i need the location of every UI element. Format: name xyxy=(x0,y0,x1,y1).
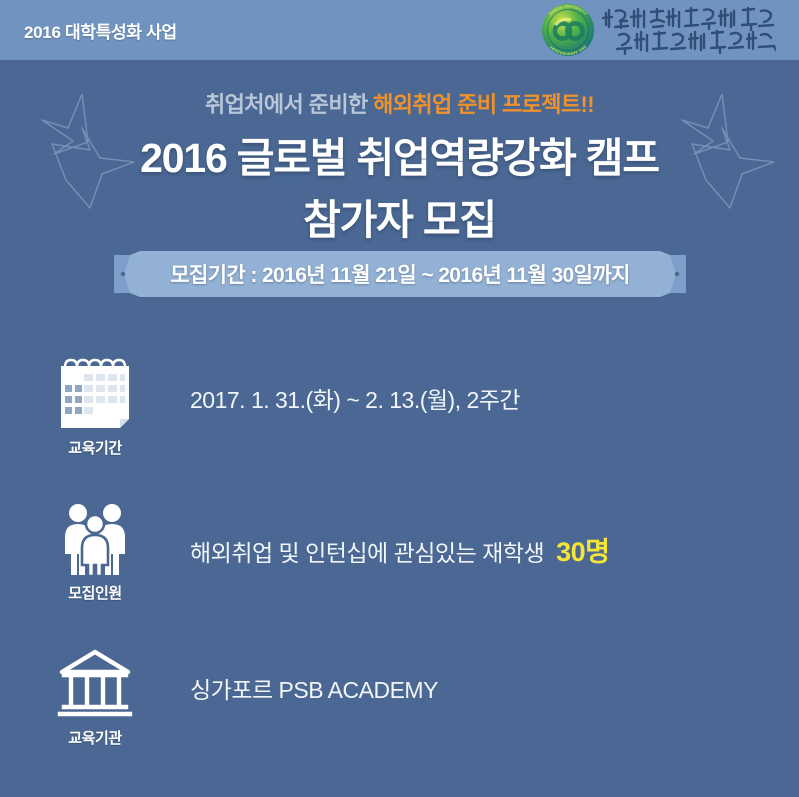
hero-subtitle: 취업처에서 준비한 해외취업 준비 프로젝트!! xyxy=(0,88,799,122)
people-group-icon xyxy=(55,500,135,578)
university-slogan xyxy=(601,5,776,55)
poster-canvas: 2016 대학특성화 사업 DAEGU UNIVERSITY 65th ANNI… xyxy=(0,0,799,797)
info-row-label: 모집인원 xyxy=(68,582,122,603)
university-logo: DAEGU UNIVERSITY 65th ANNIVERSARY xyxy=(541,2,781,58)
info-row-institution: 교육기관 싱가포르 PSB ACADEMY xyxy=(0,645,799,790)
info-row-headcount: 모집인원 해외취업 및 인턴십에 관심있는 재학생30명 xyxy=(0,500,799,645)
ribbon-text: 모집기간 : 2016년 11월 21일 ~ 2016년 11월 30일까지 xyxy=(114,251,686,297)
info-list: 교육기간 2017. 1. 31.(화) ~ 2. 13.(월), 2주간 xyxy=(0,355,799,790)
info-row-main-text: 2017. 1. 31.(화) ~ 2. 13.(월), 2주간 xyxy=(190,387,520,413)
anniversary-emblem-icon: DAEGU UNIVERSITY 65th ANNIVERSARY xyxy=(541,3,595,57)
headcount-accent: 30명 xyxy=(556,537,609,567)
hero-subtitle-plain: 취업처에서 준비한 xyxy=(205,92,373,117)
icon-column: 교육기관 xyxy=(0,645,190,748)
info-row-text: 2017. 1. 31.(화) ~ 2. 13.(월), 2주간 xyxy=(190,355,520,415)
info-row-text: 싱가포르 PSB ACADEMY xyxy=(190,645,438,705)
info-row-education-period: 교육기간 2017. 1. 31.(화) ~ 2. 13.(월), 2주간 xyxy=(0,355,799,500)
info-row-label: 교육기간 xyxy=(68,437,122,458)
icon-column: 모집인원 xyxy=(0,500,190,603)
info-row-label: 교육기관 xyxy=(68,727,122,748)
hero-title-line-2: 참가자 모집 xyxy=(0,194,799,246)
info-row-text: 해외취업 및 인턴십에 관심있는 재학생30명 xyxy=(190,500,610,569)
institution-building-icon xyxy=(55,645,135,723)
calendar-icon xyxy=(55,355,135,433)
recruitment-period-ribbon: 모집기간 : 2016년 11월 21일 ~ 2016년 11월 30일까지 xyxy=(114,251,686,297)
header-title: 2016 대학특성화 사업 xyxy=(24,18,177,43)
hero-subtitle-accent: 해외취업 준비 프로젝트!! xyxy=(373,92,594,117)
info-row-main-text: 싱가포르 PSB ACADEMY xyxy=(190,677,438,703)
hero-title-block: 취업처에서 준비한 해외취업 준비 프로젝트!! 2016 글로벌 취업역량강화… xyxy=(0,88,799,246)
info-row-main-text: 해외취업 및 인턴십에 관심있는 재학생 xyxy=(190,540,544,566)
icon-column: 교육기간 xyxy=(0,355,190,458)
hero-title-line-1: 2016 글로벌 취업역량강화 캠프 xyxy=(0,132,799,184)
